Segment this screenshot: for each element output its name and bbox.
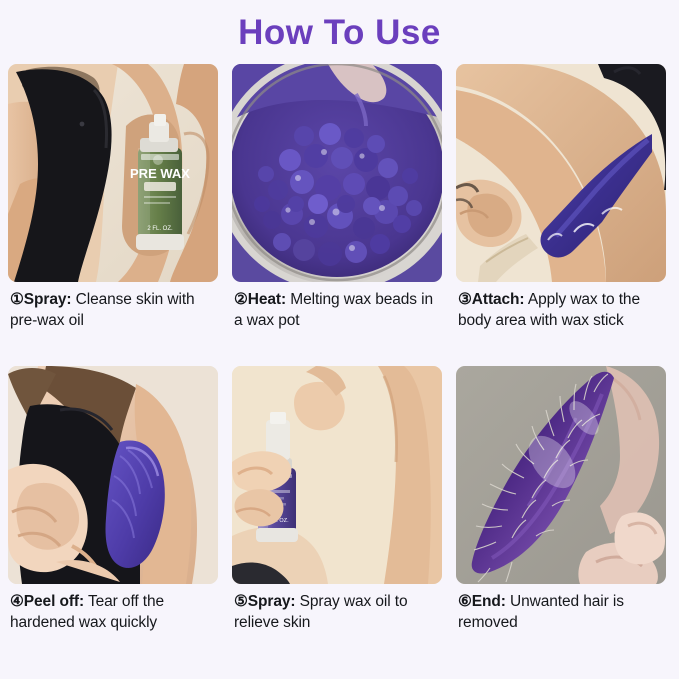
applying-wax-with-stick-photo bbox=[456, 64, 666, 282]
step-card-4: ④Peel off: Tear off the hardened wax qui… bbox=[8, 366, 218, 646]
step-2-number: ② bbox=[234, 291, 248, 308]
bottle-label-volume: 2 FL. OZ. bbox=[147, 226, 173, 232]
step-1-caption: ①Spray: Cleanse skin with pre-wax oil bbox=[8, 282, 218, 366]
step-card-6: ⑥End: Unwanted hair is removed bbox=[456, 366, 666, 646]
how-to-use-infographic: How To Use bbox=[0, 0, 679, 679]
post-wax-oil-spray-photo: 2 FL. OZ. bbox=[232, 366, 442, 584]
page-title: How To Use bbox=[0, 0, 679, 56]
step-4-photo bbox=[8, 366, 218, 584]
step-4-number: ④ bbox=[10, 593, 24, 610]
bottle-label-title: PRE WAX bbox=[130, 166, 190, 181]
step-3-number: ③ bbox=[458, 291, 472, 308]
step-3-label: Attach: bbox=[472, 291, 525, 308]
removed-wax-strip-with-hair-photo bbox=[456, 366, 666, 584]
step-card-2: ②Heat: Melting wax beads in a wax pot bbox=[232, 64, 442, 366]
step-6-number: ⑥ bbox=[458, 593, 472, 610]
step-3-caption: ③Attach: Apply wax to the body area with… bbox=[456, 282, 666, 366]
step-3-photo bbox=[456, 64, 666, 282]
step-2-photo bbox=[232, 64, 442, 282]
step-card-5: 2 FL. OZ. ⑤Spray: Spray wax oil to relie… bbox=[232, 366, 442, 646]
step-6-label: End: bbox=[472, 593, 506, 610]
peeling-hardened-wax-photo bbox=[8, 366, 218, 584]
purple-wax-beads-in-pot-photo bbox=[232, 64, 442, 282]
step-1-photo: PRE WAX 2 FL. OZ. bbox=[8, 64, 218, 282]
step-5-number: ⑤ bbox=[234, 593, 248, 610]
step-2-caption: ②Heat: Melting wax beads in a wax pot bbox=[232, 282, 442, 366]
pre-wax-spray-on-underarm-photo: PRE WAX 2 FL. OZ. bbox=[8, 64, 218, 282]
step-5-caption: ⑤Spray: Spray wax oil to relieve skin bbox=[232, 584, 442, 646]
step-6-caption: ⑥End: Unwanted hair is removed bbox=[456, 584, 666, 646]
steps-grid: PRE WAX 2 FL. OZ. ①Spray: Cleanse skin w… bbox=[0, 56, 679, 646]
step-4-label: Peel off: bbox=[24, 593, 84, 610]
step-2-label: Heat: bbox=[248, 291, 286, 308]
step-5-label: Spray: bbox=[248, 593, 296, 610]
step-1-number: ① bbox=[10, 291, 24, 308]
step-card-1: PRE WAX 2 FL. OZ. ①Spray: Cleanse skin w… bbox=[8, 64, 218, 366]
step-6-photo bbox=[456, 366, 666, 584]
step-5-photo: 2 FL. OZ. bbox=[232, 366, 442, 584]
step-4-caption: ④Peel off: Tear off the hardened wax qui… bbox=[8, 584, 218, 646]
step-card-3: ③Attach: Apply wax to the body area with… bbox=[456, 64, 666, 366]
step-1-label: Spray: bbox=[24, 291, 72, 308]
